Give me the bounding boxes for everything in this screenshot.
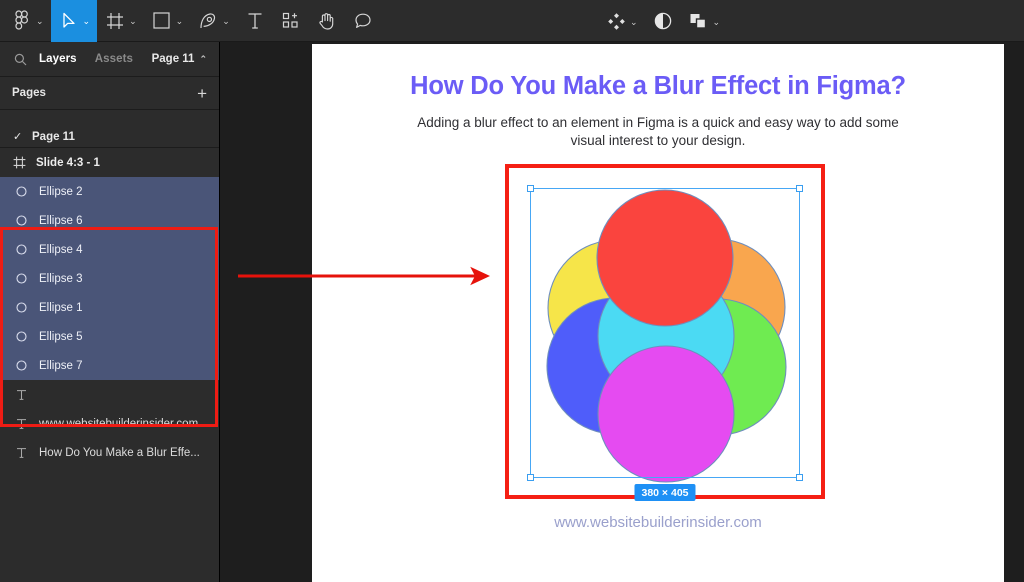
- slide-title: How Do You Make a Blur Effect in Figma?: [312, 72, 1004, 101]
- shape-tool-button[interactable]: ⌄: [144, 0, 191, 42]
- slide-artboard[interactable]: How Do You Make a Blur Effect in Figma? …: [312, 44, 1004, 582]
- text-tool-button[interactable]: [237, 0, 273, 42]
- ellipse-icon: [14, 301, 28, 315]
- layer-name: Ellipse 3: [39, 273, 82, 285]
- layer-name: Ellipse 4: [39, 244, 82, 256]
- layer-name: Slide 4:3 - 1: [36, 157, 100, 169]
- frame-tool-icon: [104, 10, 126, 32]
- layer-name: Ellipse 2: [39, 186, 82, 198]
- layer-row-text-url[interactable]: www.websitebuilderinsider.com: [0, 409, 219, 438]
- move-tool-icon: [58, 10, 80, 32]
- slide-footer-url: www.websitebuilderinsider.com: [312, 514, 1004, 531]
- figma-menu-icon: [11, 10, 33, 32]
- chevron-down-icon: ⌄: [222, 17, 230, 26]
- resize-handle-bottom-left[interactable]: [527, 474, 534, 481]
- top-toolbar: ⌄ ⌄ ⌄ ⌄: [0, 0, 1024, 42]
- layer-row-ellipse-2[interactable]: Ellipse 2: [0, 177, 219, 206]
- layer-name: Ellipse 7: [39, 360, 82, 372]
- text-icon: [14, 446, 28, 460]
- layer-row-ellipse-7[interactable]: Ellipse 7: [0, 351, 219, 380]
- selection-bounding-box[interactable]: [530, 188, 800, 478]
- layer-name: Ellipse 1: [39, 302, 82, 314]
- components-button[interactable]: ⌄: [598, 0, 645, 42]
- add-page-button[interactable]: +: [197, 85, 207, 102]
- hand-tool-icon: [316, 10, 338, 32]
- selection-size-badge: 380 × 405: [634, 484, 695, 501]
- check-icon: ✓: [13, 130, 23, 143]
- layer-name: Ellipse 5: [39, 331, 82, 343]
- layer-row-ellipse-4[interactable]: Ellipse 4: [0, 235, 219, 264]
- page-name: Page 11: [32, 131, 75, 143]
- layer-row-ellipse-3[interactable]: Ellipse 3: [0, 264, 219, 293]
- move-tool-button[interactable]: ⌄: [51, 0, 98, 42]
- search-icon[interactable]: [10, 49, 30, 69]
- pen-tool-icon: [197, 10, 219, 32]
- sidebar-tab-bar: Layers Assets Page 11 ⌃: [0, 42, 219, 77]
- resize-handle-top-left[interactable]: [527, 185, 534, 192]
- pages-section-header: Pages +: [0, 77, 219, 110]
- tab-assets[interactable]: Assets: [86, 53, 142, 65]
- layer-row-slide-frame[interactable]: Slide 4:3 - 1: [0, 148, 219, 177]
- boolean-union-button[interactable]: ⌄: [681, 0, 728, 42]
- chevron-down-icon: ⌄: [129, 17, 137, 26]
- chevron-down-icon: ⌄: [36, 17, 44, 26]
- page-selector[interactable]: Page 11 ⌃: [152, 53, 209, 65]
- canvas-area[interactable]: How Do You Make a Blur Effect in Figma? …: [220, 42, 1024, 582]
- layer-row-text-title[interactable]: How Do You Make a Blur Effe...: [0, 438, 219, 467]
- ellipse-icon: [14, 214, 28, 228]
- ellipse-icon: [14, 272, 28, 286]
- chevron-down-icon: ⌄: [630, 18, 638, 27]
- layer-row-ellipse-5[interactable]: Ellipse 5: [0, 322, 219, 351]
- layer-name: www.websitebuilderinsider.com: [39, 418, 198, 430]
- tab-layers[interactable]: Layers: [30, 53, 86, 65]
- annotation-artwork-box: 380 × 405: [505, 164, 825, 499]
- left-sidebar: Layers Assets Page 11 ⌃ Pages + ✓ Page 1…: [0, 42, 220, 582]
- text-tool-icon: [244, 10, 266, 32]
- layer-name: Ellipse 6: [39, 215, 82, 227]
- slide-subtitle: Adding a blur effect to an element in Fi…: [400, 114, 916, 150]
- pages-title: Pages: [12, 87, 46, 99]
- toolbar-center-group: ⌄ ⌄: [598, 0, 727, 42]
- ellipse-icon: [14, 185, 28, 199]
- ellipse-icon: [14, 330, 28, 344]
- chevron-up-icon: ⌃: [199, 54, 207, 65]
- artwork-stage: 380 × 405: [509, 168, 821, 495]
- ellipse-icon: [14, 359, 28, 373]
- resize-handle-bottom-right[interactable]: [796, 474, 803, 481]
- layers-list: Slide 4:3 - 1 Ellipse 2 Ellipse 6 Ellips…: [0, 148, 219, 467]
- mask-button[interactable]: [645, 0, 681, 42]
- frame-icon: [12, 156, 26, 170]
- resources-icon: [280, 10, 302, 32]
- text-icon: [14, 388, 28, 402]
- frame-tool-button[interactable]: ⌄: [97, 0, 144, 42]
- hand-tool-button[interactable]: [309, 0, 345, 42]
- comment-tool-icon: [352, 10, 374, 32]
- figma-app-window: ⌄ ⌄ ⌄ ⌄: [0, 0, 1024, 582]
- layer-row-ellipse-1[interactable]: Ellipse 1: [0, 293, 219, 322]
- ellipse-icon: [14, 243, 28, 257]
- pen-tool-button[interactable]: ⌄: [190, 0, 237, 42]
- layer-row-ellipse-6[interactable]: Ellipse 6: [0, 206, 219, 235]
- chevron-down-icon: ⌄: [713, 18, 721, 27]
- pages-list[interactable]: ✓ Page 11: [0, 110, 219, 148]
- resources-button[interactable]: [273, 0, 309, 42]
- boolean-union-icon: [688, 10, 710, 32]
- layer-row-text-empty[interactable]: [0, 380, 219, 409]
- chevron-down-icon: ⌄: [176, 17, 184, 26]
- text-icon: [14, 417, 28, 431]
- page-selector-label: Page 11: [152, 53, 195, 65]
- shape-tool-icon: [151, 10, 173, 32]
- chevron-down-icon: ⌄: [83, 17, 91, 26]
- comment-tool-button[interactable]: [345, 0, 381, 42]
- page-list-item-partial[interactable]: [0, 110, 219, 122]
- figma-menu-button[interactable]: ⌄: [4, 0, 51, 42]
- resize-handle-top-right[interactable]: [796, 185, 803, 192]
- layer-name: How Do You Make a Blur Effe...: [39, 447, 200, 459]
- components-icon: [605, 10, 627, 32]
- page-list-item-page-11[interactable]: ✓ Page 11: [0, 122, 219, 148]
- mask-icon: [652, 10, 674, 32]
